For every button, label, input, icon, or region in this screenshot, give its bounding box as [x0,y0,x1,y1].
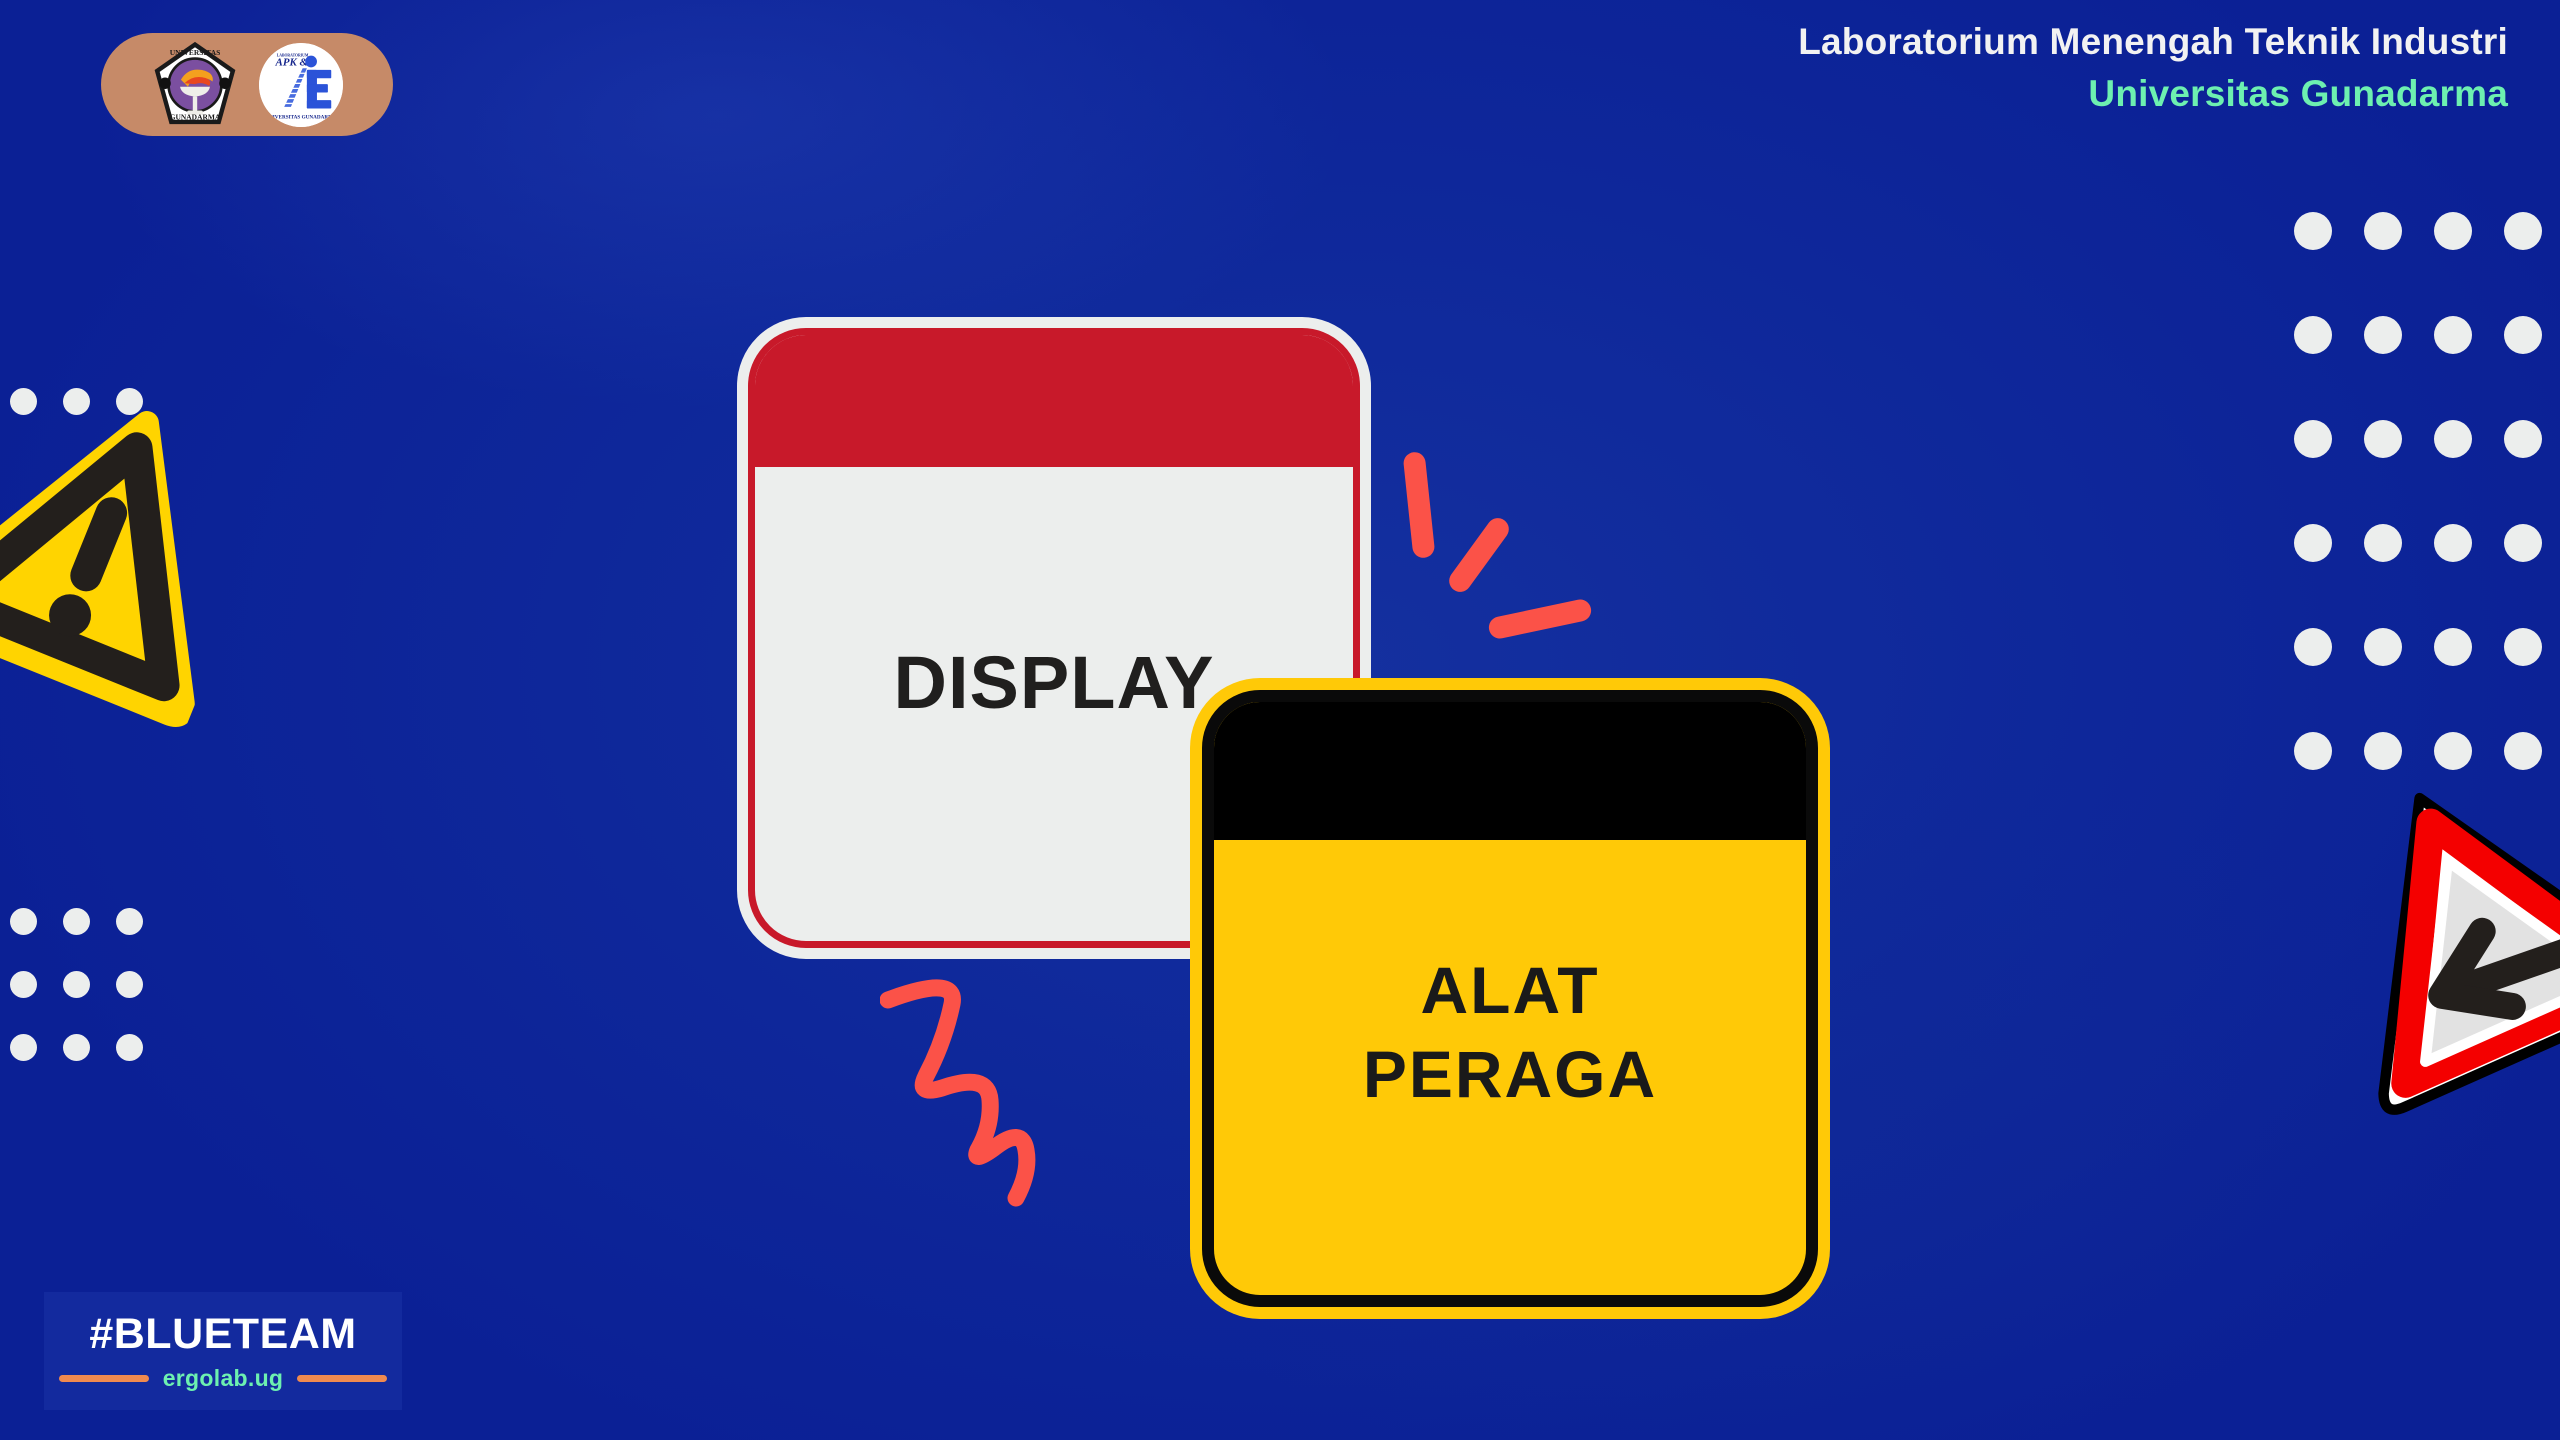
grid-dot [2434,316,2472,354]
grid-dot [10,908,37,935]
grid-dot [2364,316,2402,354]
left-arrow-triangle-sign-icon [2259,709,2560,1145]
grid-dot [2294,628,2332,666]
universitas-gunadarma-seal-icon: UNIVERSITAS GUNADARMA [151,41,239,129]
grid-dot [63,908,90,935]
svg-text:UNIVERSITAS GUNADARMA: UNIVERSITAS GUNADARMA [265,114,337,120]
burst-stroke-3 [1487,597,1593,640]
grid-dot [2504,212,2542,250]
grid-dot [2364,420,2402,458]
blueteam-tag: #BLUETEAM [89,1310,356,1359]
grid-dot [63,1034,90,1061]
grid-dot [2294,316,2332,354]
grid-dot [2294,212,2332,250]
blueteam-subrow: ergolab.ug [59,1365,388,1392]
card-display-band [755,335,1353,467]
grid-dot [116,1034,143,1061]
grid-dot [2434,212,2472,250]
grid-dot [2504,524,2542,562]
header-title-block: Laboratorium Menengah Teknik Industri Un… [1798,16,2508,120]
grid-dot [116,971,143,998]
svg-text:GUNADARMA: GUNADARMA [170,112,221,121]
grid-dot [63,971,90,998]
rule-right [297,1375,387,1382]
grid-dot [2504,420,2542,458]
grid-dot [2294,420,2332,458]
grid-dot [2294,732,2332,770]
svg-text:UNIVERSITAS: UNIVERSITAS [170,48,221,57]
burst-stroke-1 [1403,451,1436,559]
grid-dot [2294,524,2332,562]
grid-dot [2364,732,2402,770]
grid-dot [2434,628,2472,666]
header-line-2: Universitas Gunadarma [1798,68,2508,120]
grid-dot [2434,524,2472,562]
card-alat-peraga-label-line1: ALAT [1420,955,1599,1026]
grid-dot [2364,628,2402,666]
lab-apk-e-seal-icon: LABORATORIUM APK & [259,43,343,127]
grid-dot [2504,316,2542,354]
card-alat-peraga-band [1214,702,1806,840]
grid-dot [2364,524,2402,562]
red-burst-marks-icon [1380,440,1600,640]
card-alat-peraga-label-line2: PERAGA [1363,1039,1657,1110]
logo-pill: UNIVERSITAS GUNADARMA LABORATORIUM APK & [101,33,393,136]
card-display-label: DISPLAY [894,640,1215,725]
grid-dot [10,971,37,998]
red-zigzag-squiggle-icon [880,960,1140,1220]
card-alat-peraga-body: ALAT PERAGA [1214,840,1806,1295]
grid-dot [2364,212,2402,250]
ergolab-handle: ergolab.ug [163,1365,284,1392]
card-alat-peraga[interactable]: ALAT PERAGA [1202,690,1818,1307]
warning-triangle-sign-icon [0,349,293,740]
poster-canvas: UNIVERSITAS GUNADARMA LABORATORIUM APK & [0,0,2560,1440]
grid-dot [2504,628,2542,666]
grid-dot [116,908,143,935]
rule-left [59,1375,149,1382]
svg-text:APK &: APK & [275,56,309,68]
burst-stroke-2 [1445,514,1513,597]
grid-dot [2434,420,2472,458]
blueteam-badge: #BLUETEAM ergolab.ug [44,1292,402,1410]
grid-dot [10,1034,37,1061]
header-line-1: Laboratorium Menengah Teknik Industri [1798,16,2508,68]
